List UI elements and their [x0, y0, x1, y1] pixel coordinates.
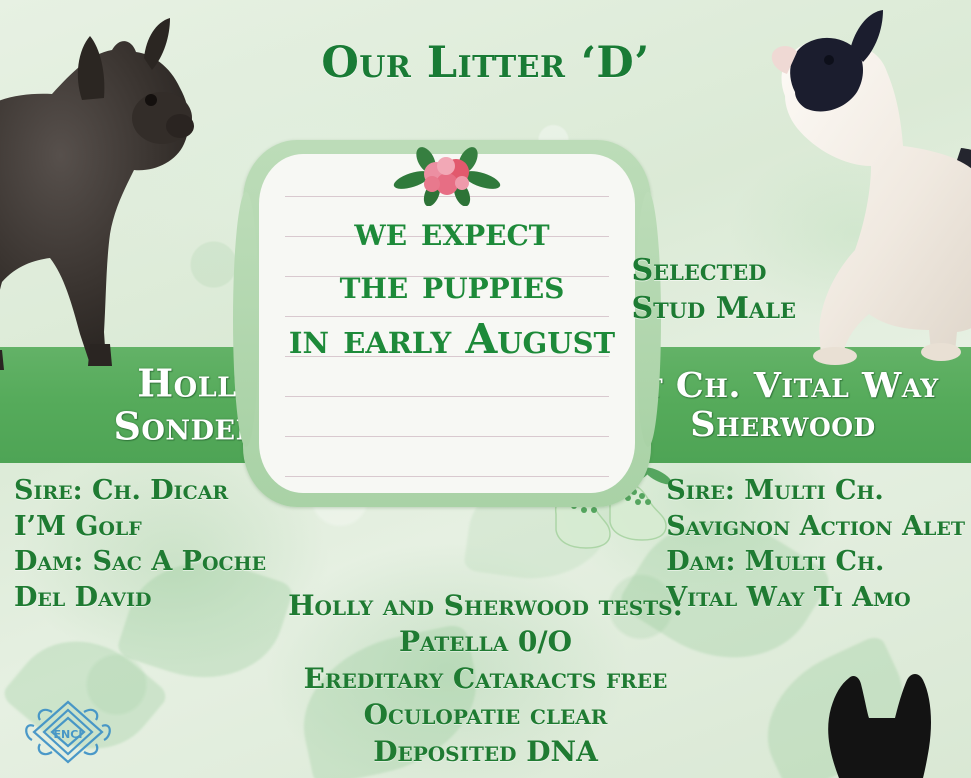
announcement-line-2: the puppies — [243, 259, 661, 312]
selected-stud-label-line-2: Stud Male — [631, 290, 796, 328]
dam-pedigree: Sire: Ch. Dicar I’M Golf Dam: Sac A Poch… — [14, 473, 266, 616]
health-test-item: Oculopatie clear — [266, 697, 706, 733]
health-tests-heading: Holly and Sherwood tests: — [266, 588, 706, 624]
announcement-text: we expect the puppies in early August — [243, 206, 661, 366]
health-tests-block: Holly and Sherwood tests: Patella 0/O Er… — [266, 588, 706, 770]
kennel-club-diamond-logo: ENCI — [22, 692, 114, 770]
dam-pedigree-line: I’M Golf — [14, 509, 266, 545]
stud-pedigree-line: Dam: Multi Ch. — [666, 544, 965, 580]
announcement-line-1: we expect — [243, 206, 661, 259]
litter-announcement-poster: Our Litter ‘D’ we expect the puppies in … — [0, 0, 971, 778]
dam-pedigree-line: Dam: Sac A Poche — [14, 544, 266, 580]
selected-stud-label-line-1: Selected — [631, 252, 796, 290]
health-test-item: Deposited DNA — [266, 734, 706, 770]
page-title: Our Litter ‘D’ — [0, 38, 971, 88]
flower-bouquet-icon — [392, 146, 502, 206]
stud-pedigree: Sire: Multi Ch. Savignon Action Alet Dam… — [666, 473, 965, 616]
stud-pedigree-line: Savignon Action Alet — [666, 509, 965, 545]
dam-pedigree-line: Del David — [14, 580, 266, 616]
health-test-item: Patella 0/O — [266, 624, 706, 660]
dam-pedigree-line: Sire: Ch. Dicar — [14, 473, 266, 509]
health-test-item: Ereditary Cataracts free — [266, 661, 706, 697]
announcement-line-3: in early August — [243, 312, 661, 366]
stud-pedigree-line: Vital Way Ti Amo — [666, 580, 965, 616]
svg-text:ENCI: ENCI — [54, 728, 83, 741]
stud-pedigree-line: Sire: Multi Ch. — [666, 473, 965, 509]
french-bulldog-head-silhouette — [813, 660, 945, 778]
announcement-card: we expect the puppies in early August — [243, 140, 651, 507]
selected-stud-label: Selected Stud Male — [631, 252, 796, 328]
